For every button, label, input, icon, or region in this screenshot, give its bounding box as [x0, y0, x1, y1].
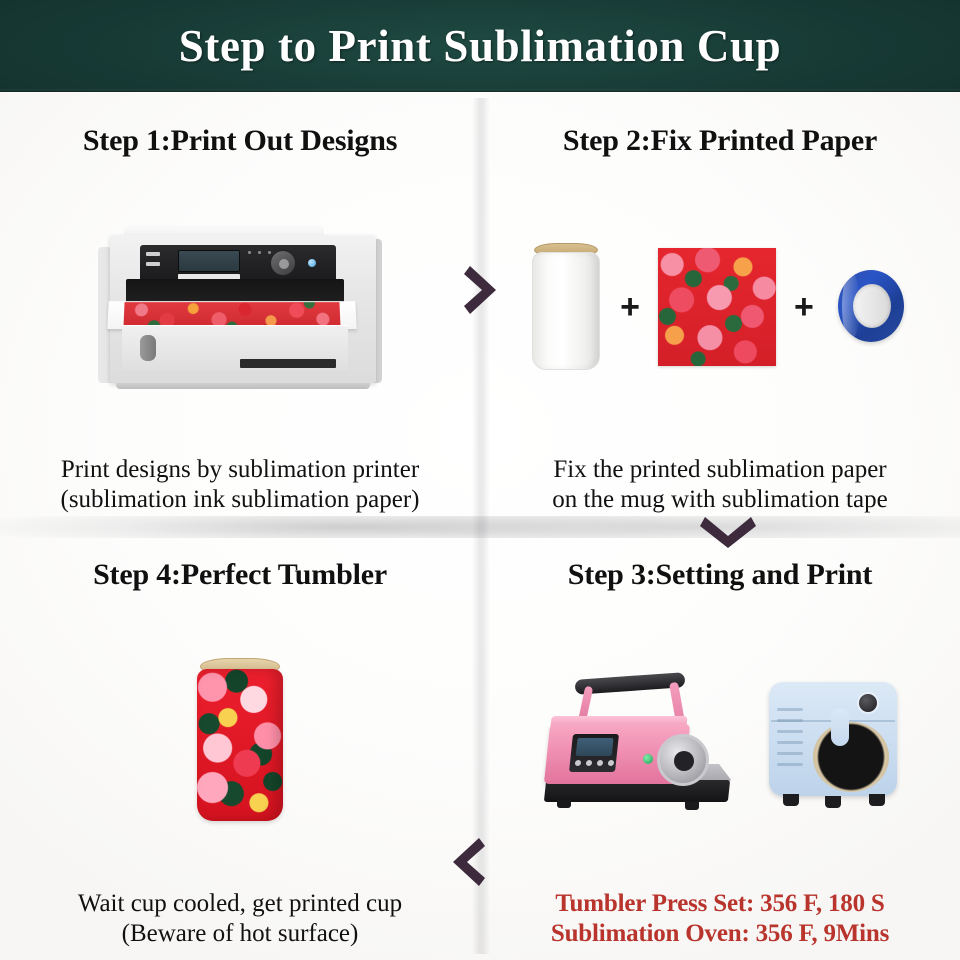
infographic-page: Step to Print Sublimation Cup Step 1:Pri… [0, 0, 960, 960]
step-3-caption-line-1: Tumbler Press Set: 356 F, 180 S [551, 889, 889, 919]
step-4-caption-line-1: Wait cup cooled, get printed cup [78, 889, 402, 919]
arrow-step3-to-step4 [445, 832, 487, 892]
blank-glass-cup-icon [530, 243, 602, 371]
arrow-step2-to-step3 [700, 512, 756, 550]
oven-foot-middle [825, 796, 841, 808]
step-3-caption-line-2: Sublimation Oven: 356 F, 9Mins [551, 919, 889, 949]
step-panel-1: Step 1:Print Out Designs [0, 92, 480, 526]
blue-sublimation-tape-icon [832, 268, 910, 346]
oven-handle [831, 708, 849, 746]
oven-foot-right [869, 794, 885, 806]
printer-tray-slot [240, 359, 336, 368]
printer-power-led [308, 259, 316, 267]
step-2-title: Step 2:Fix Printed Paper [563, 124, 877, 158]
tumbler-floral-wrap [197, 669, 283, 821]
oven-vents [777, 708, 803, 774]
press-control-buttons [575, 760, 615, 766]
tumbler-heat-press-icon [539, 668, 739, 814]
step-3-artwork [490, 592, 950, 889]
printer-front-tray [122, 325, 348, 371]
step-4-title: Step 4:Perfect Tumbler [93, 558, 387, 592]
step-3-machines-row [490, 668, 950, 814]
oven-foot-left [783, 794, 799, 806]
press-power-indicator [643, 754, 653, 764]
press-foot-right [685, 802, 699, 810]
sublimation-oven-icon [765, 674, 901, 814]
step-3-title: Step 3:Setting and Print [568, 558, 872, 592]
step-4-caption-line-2: (Beware of hot surface) [78, 919, 402, 949]
arrow-step1-to-step2 [462, 260, 504, 320]
step-1-artwork [10, 158, 470, 455]
step-2-caption-line-1: Fix the printed sublimation paper [552, 455, 887, 485]
printer-base [116, 383, 370, 389]
step-2-items-row: + + [490, 243, 950, 371]
plus-sign-2: + [794, 290, 814, 324]
press-heating-drum [657, 734, 709, 786]
step-1-caption: Print designs by sublimation printer (su… [61, 455, 420, 518]
sublimation-printer-icon [82, 217, 398, 397]
step-4-artwork [10, 592, 470, 889]
step-1-caption-line-2: (sublimation ink sublimation paper) [61, 485, 420, 515]
step-1-title: Step 1:Print Out Designs [83, 124, 397, 158]
printed-floral-paper-icon [658, 248, 776, 366]
printer-tray-knob [140, 335, 156, 361]
step-panel-3: Step 3:Setting and Print [480, 526, 960, 960]
step-2-artwork: + + [490, 158, 950, 455]
step-1-caption-line-1: Print designs by sublimation printer [61, 455, 420, 485]
step-2-caption-line-2: on the mug with sublimation tape [552, 485, 887, 515]
page-title: Step to Print Sublimation Cup [179, 20, 782, 72]
press-foot-left [557, 800, 571, 808]
oven-control-knob [857, 692, 879, 714]
printer-side-buttons [146, 252, 160, 272]
frosted-glass-body [532, 252, 600, 370]
oven-chamber-opening [813, 722, 889, 792]
printer-navigation-pad [270, 250, 296, 276]
step-panel-4: Step 4:Perfect Tumbler Wait cup cooled, … [0, 526, 480, 960]
floral-printed-design [123, 302, 340, 328]
step-2-caption: Fix the printed sublimation paper on the… [552, 455, 887, 518]
printer-control-panel [140, 245, 336, 283]
step-4-caption: Wait cup cooled, get printed cup (Beware… [78, 889, 402, 952]
steps-grid: Step 1:Print Out Designs [0, 92, 960, 960]
tape-highlight [842, 272, 860, 340]
header-banner: Step to Print Sublimation Cup [0, 0, 960, 92]
step-panel-2: Step 2:Fix Printed Paper + + [480, 92, 960, 526]
step-3-caption: Tumbler Press Set: 356 F, 180 S Sublimat… [551, 889, 889, 952]
finished-printed-tumbler-icon [194, 658, 286, 824]
plus-sign-1: + [620, 290, 640, 324]
printer-lcd-screen [178, 250, 240, 272]
